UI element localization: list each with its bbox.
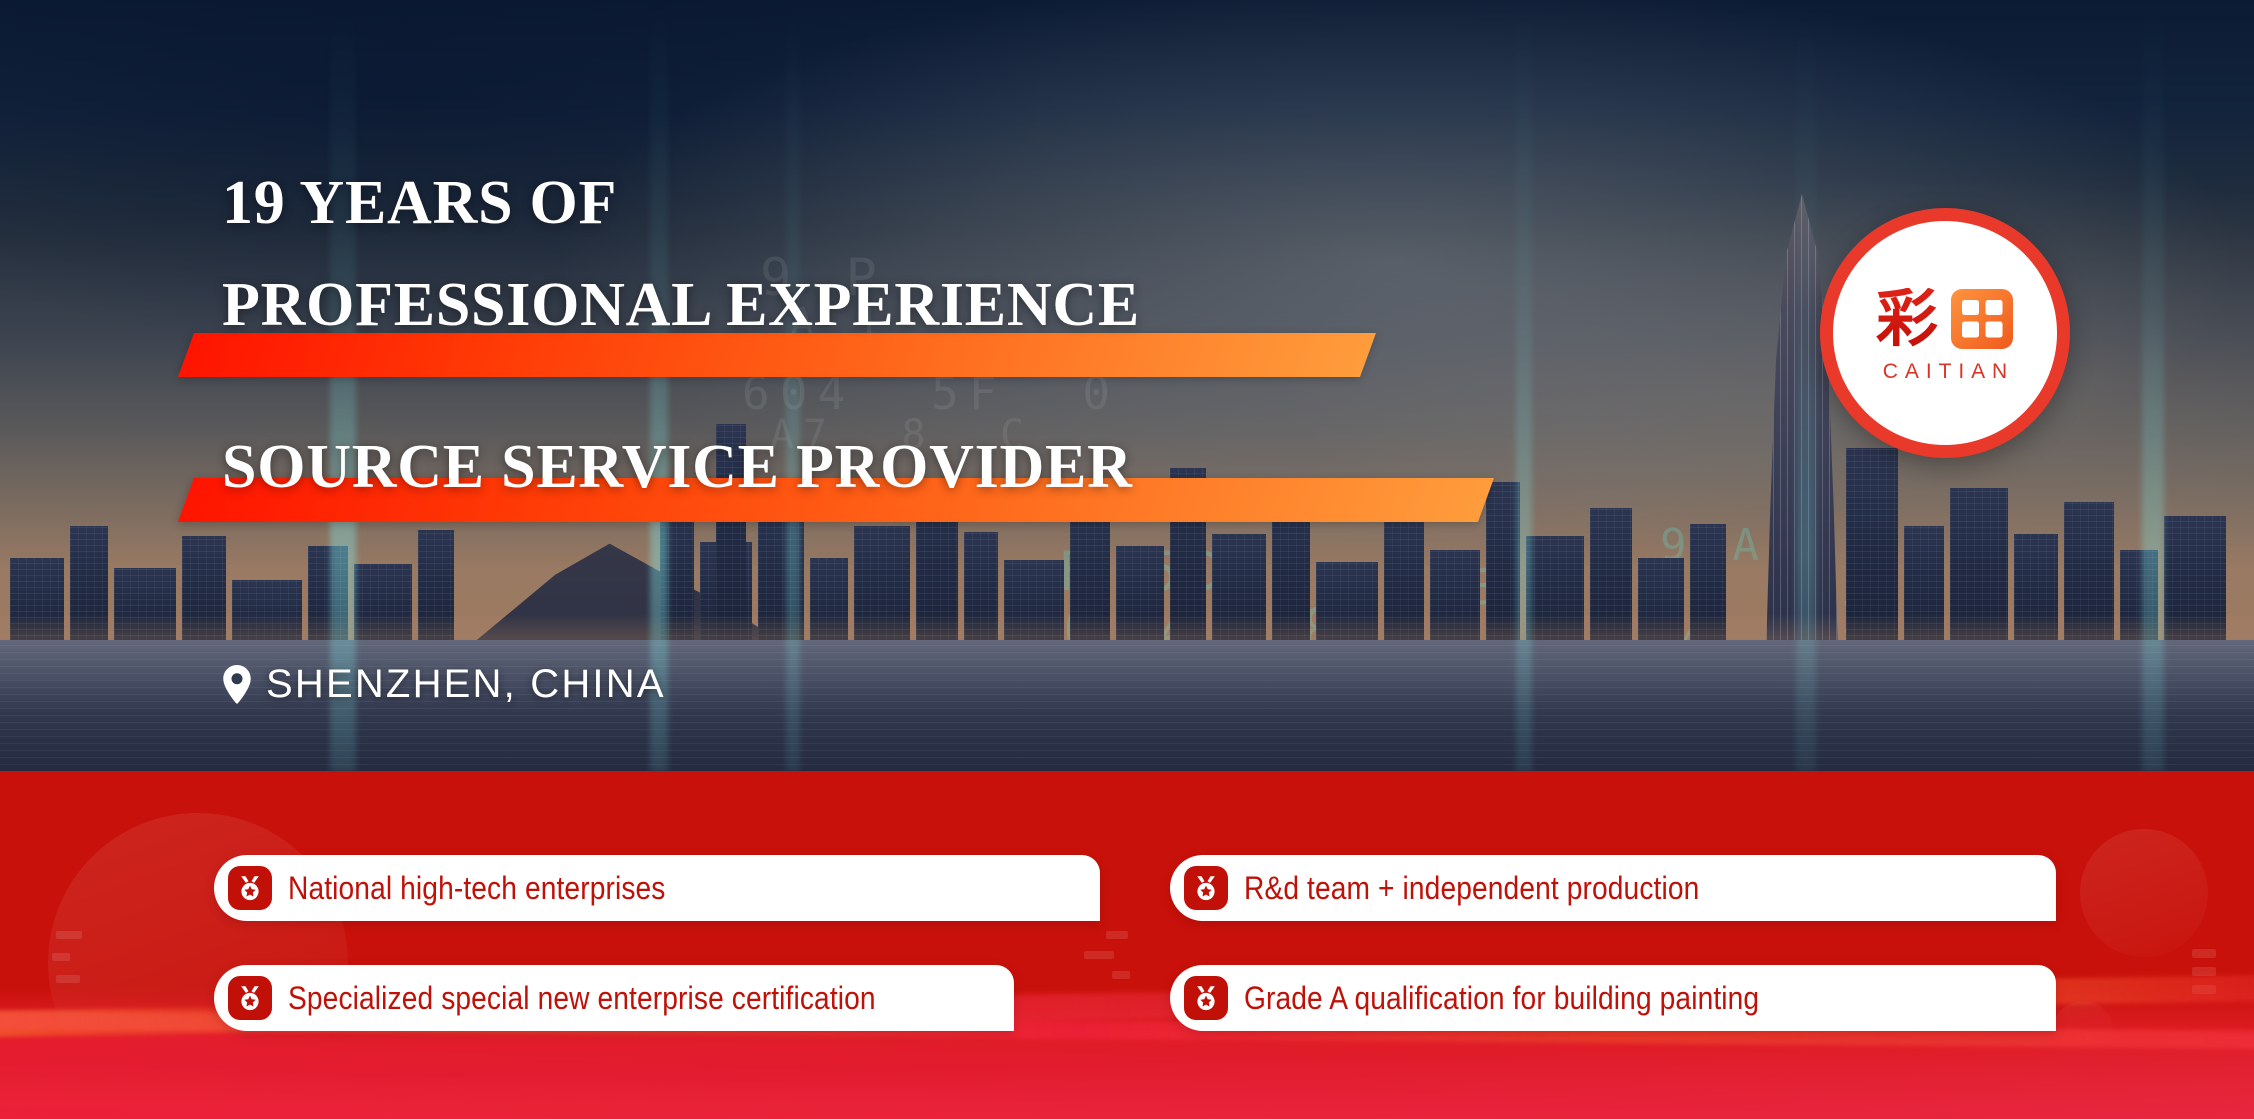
medal-icon (1184, 976, 1228, 1020)
cert-label: R&d team + independent production (1244, 870, 1699, 907)
cert-label: National high-tech enterprises (288, 870, 665, 907)
logo-chinese-character: 彩 (1876, 288, 1938, 350)
medal-icon (228, 976, 272, 1020)
cert-badge[interactable]: Specialized special new enterprise certi… (214, 965, 1014, 1031)
medal-icon (228, 866, 272, 910)
promo-banner: 9 P A 1 604 5F 0 A7 8 C E2 F 5D0 5926 4 … (0, 0, 2254, 1119)
cert-badge[interactable]: R&d team + independent production (1170, 855, 2056, 921)
cert-badge[interactable]: National high-tech enterprises (214, 855, 1100, 921)
medal-icon (1184, 866, 1228, 910)
cert-label: Grade A qualification for building paint… (1244, 980, 1759, 1017)
cert-badge[interactable]: Grade A qualification for building paint… (1170, 965, 2056, 1031)
headline-line-3: SOURCE SERVICE PROVIDER (222, 432, 1133, 503)
location-text: SHENZHEN, CHINA (266, 662, 666, 707)
headline-line-2: PROFESSIONAL EXPERIENCE (222, 270, 1140, 341)
location-label: SHENZHEN, CHINA (222, 662, 666, 707)
cert-label: Specialized special new enterprise certi… (288, 980, 876, 1017)
logo-wordmark: CAITIAN (1876, 360, 2014, 384)
headline-line-1: 19 YEARS OF (222, 168, 617, 239)
map-pin-icon (222, 665, 252, 705)
building-grid-icon (1950, 288, 2014, 350)
company-logo[interactable]: 彩 CAITIAN (1820, 208, 2070, 458)
certification-badges: National high-tech enterprises R&d team … (0, 771, 2254, 1119)
